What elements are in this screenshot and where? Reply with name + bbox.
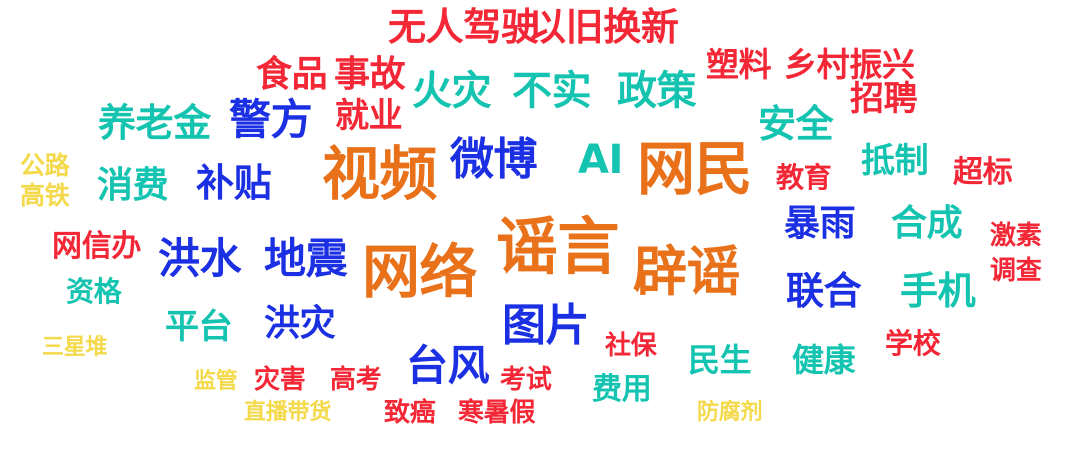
word-cloud-term[interactable]: 乡村振兴 bbox=[784, 48, 915, 81]
word-cloud-term[interactable]: 无人驾驶 bbox=[388, 8, 538, 46]
word-cloud-term[interactable]: 监管 bbox=[194, 371, 238, 393]
word-cloud-term[interactable]: 灾害 bbox=[254, 367, 305, 393]
word-cloud-term[interactable]: 抵制 bbox=[861, 144, 928, 178]
word-cloud-term[interactable]: 招聘 bbox=[850, 82, 917, 116]
word-cloud-term[interactable]: 防腐剂 bbox=[697, 402, 762, 424]
word-cloud-term[interactable]: 网络 bbox=[362, 243, 477, 301]
word-cloud-term[interactable]: 社保 bbox=[605, 333, 656, 359]
word-cloud-term[interactable]: 洪灾 bbox=[264, 306, 335, 342]
word-cloud-term[interactable]: 洪水 bbox=[158, 238, 241, 280]
word-cloud-term[interactable]: 食品 bbox=[256, 57, 327, 93]
word-cloud-term[interactable]: 高铁 bbox=[20, 183, 70, 208]
word-cloud-term[interactable]: 三星堆 bbox=[42, 337, 107, 359]
word-cloud-canvas: 无人驾驶以旧换新食品事故塑料乡村振兴火灾不实政策就业招聘养老金警方安全公路高铁消… bbox=[0, 0, 1066, 465]
word-cloud-term[interactable]: 学校 bbox=[885, 330, 940, 358]
word-cloud-term[interactable]: 视频 bbox=[322, 145, 437, 203]
word-cloud-term[interactable]: 资格 bbox=[66, 278, 121, 306]
word-cloud-term[interactable]: 警方 bbox=[229, 99, 312, 141]
word-cloud-term[interactable]: 火灾 bbox=[412, 71, 491, 111]
word-cloud-term[interactable]: 就业 bbox=[335, 99, 402, 133]
word-cloud-term[interactable]: 健康 bbox=[792, 344, 855, 376]
word-cloud-term[interactable]: 暴雨 bbox=[784, 206, 855, 242]
word-cloud-term[interactable]: 高考 bbox=[330, 367, 381, 393]
word-cloud-term[interactable]: 养老金 bbox=[98, 104, 211, 142]
word-cloud-term[interactable]: 台风 bbox=[406, 345, 489, 387]
word-cloud-term[interactable]: 致癌 bbox=[384, 400, 435, 426]
word-cloud-term[interactable]: 调查 bbox=[990, 258, 1041, 284]
word-cloud-term[interactable]: 以旧换新 bbox=[528, 8, 678, 46]
word-cloud-term[interactable]: 激素 bbox=[990, 223, 1041, 249]
word-cloud-term[interactable]: 地震 bbox=[264, 238, 347, 280]
word-cloud-term[interactable]: 民生 bbox=[688, 344, 751, 376]
word-cloud-term[interactable]: 考试 bbox=[500, 367, 551, 393]
word-cloud-term[interactable]: 直播带货 bbox=[244, 402, 331, 424]
word-cloud-term[interactable]: AI bbox=[578, 140, 623, 180]
word-cloud-term[interactable]: 微博 bbox=[450, 138, 537, 182]
word-cloud-term[interactable]: 寒暑假 bbox=[458, 400, 535, 426]
word-cloud-term[interactable]: 合成 bbox=[891, 206, 962, 242]
word-cloud-term[interactable]: 超标 bbox=[953, 158, 1012, 188]
word-cloud-term[interactable]: 公路 bbox=[20, 153, 70, 178]
word-cloud-term[interactable]: 平台 bbox=[165, 310, 232, 344]
word-cloud-term[interactable]: 手机 bbox=[900, 272, 975, 310]
word-cloud-term[interactable]: 补贴 bbox=[196, 164, 271, 202]
word-cloud-term[interactable]: 消费 bbox=[97, 168, 168, 204]
word-cloud-term[interactable]: 不实 bbox=[512, 71, 591, 111]
word-cloud-term[interactable]: 政策 bbox=[617, 71, 696, 111]
word-cloud-term[interactable]: 图片 bbox=[502, 304, 589, 348]
word-cloud-term[interactable]: 事故 bbox=[334, 57, 405, 93]
word-cloud-term[interactable]: 网民 bbox=[637, 140, 752, 198]
word-cloud-term[interactable]: 联合 bbox=[786, 272, 861, 310]
word-cloud-term[interactable]: 费用 bbox=[592, 375, 651, 405]
word-cloud-term[interactable]: 安全 bbox=[758, 105, 833, 143]
word-cloud-term[interactable]: 辟谣 bbox=[633, 245, 740, 299]
word-cloud-term[interactable]: 网信办 bbox=[52, 232, 141, 262]
word-cloud-term[interactable]: 塑料 bbox=[706, 48, 771, 81]
word-cloud-term[interactable]: 教育 bbox=[776, 164, 831, 192]
word-cloud-term[interactable]: 谣言 bbox=[496, 216, 619, 278]
